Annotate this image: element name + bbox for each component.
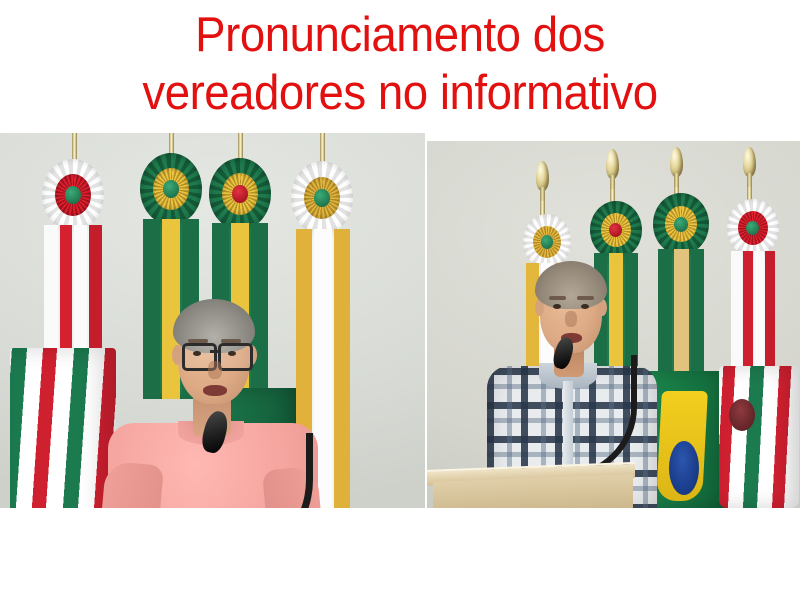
flag-sc-emblem xyxy=(729,399,755,431)
photo-councilman-plaid-shirt xyxy=(427,141,800,508)
microphone-arm-left xyxy=(214,433,313,508)
flag-finial-1 xyxy=(536,161,549,191)
photo-councilman-pink-shirt xyxy=(0,133,425,508)
glasses-bridge xyxy=(210,350,219,353)
page-title: Pronunciamento dos vereadores no informa… xyxy=(0,0,800,132)
rosette-green-yellow xyxy=(140,153,202,225)
flag-finial-3 xyxy=(670,147,683,177)
flag-santa-catarina xyxy=(719,366,799,508)
speaker-eye-right xyxy=(228,351,236,356)
speaker-nose xyxy=(208,361,222,379)
flag-santa-catarina-left xyxy=(10,348,116,508)
speaker-eye-right xyxy=(581,304,589,309)
flag-brazil-blue-globe xyxy=(669,441,699,495)
slide-canvas: Pronunciamento dos vereadores no informa… xyxy=(0,0,800,600)
flag-finial-4 xyxy=(743,147,756,177)
speaker-nose xyxy=(565,311,577,327)
rosette-white-gold xyxy=(291,161,353,235)
page-title-line-2: vereadores no informativo xyxy=(28,64,772,122)
speaker-mouth xyxy=(203,385,227,396)
rosette-green-gold-red xyxy=(590,201,642,259)
speaker-brow-right xyxy=(577,296,594,300)
glasses-lens-right xyxy=(218,343,253,371)
rosette-white-red xyxy=(42,159,104,231)
speaker-brow-left xyxy=(549,296,566,300)
flag-finial-2 xyxy=(606,149,619,179)
rosette-green-gold xyxy=(653,193,709,255)
speaker-eye-left xyxy=(553,304,561,309)
rosette-green-yellow-red xyxy=(209,158,271,230)
rosette-white-red xyxy=(727,199,779,257)
speaker-eye-left xyxy=(193,351,201,356)
page-title-line-1: Pronunciamento dos xyxy=(28,6,772,64)
